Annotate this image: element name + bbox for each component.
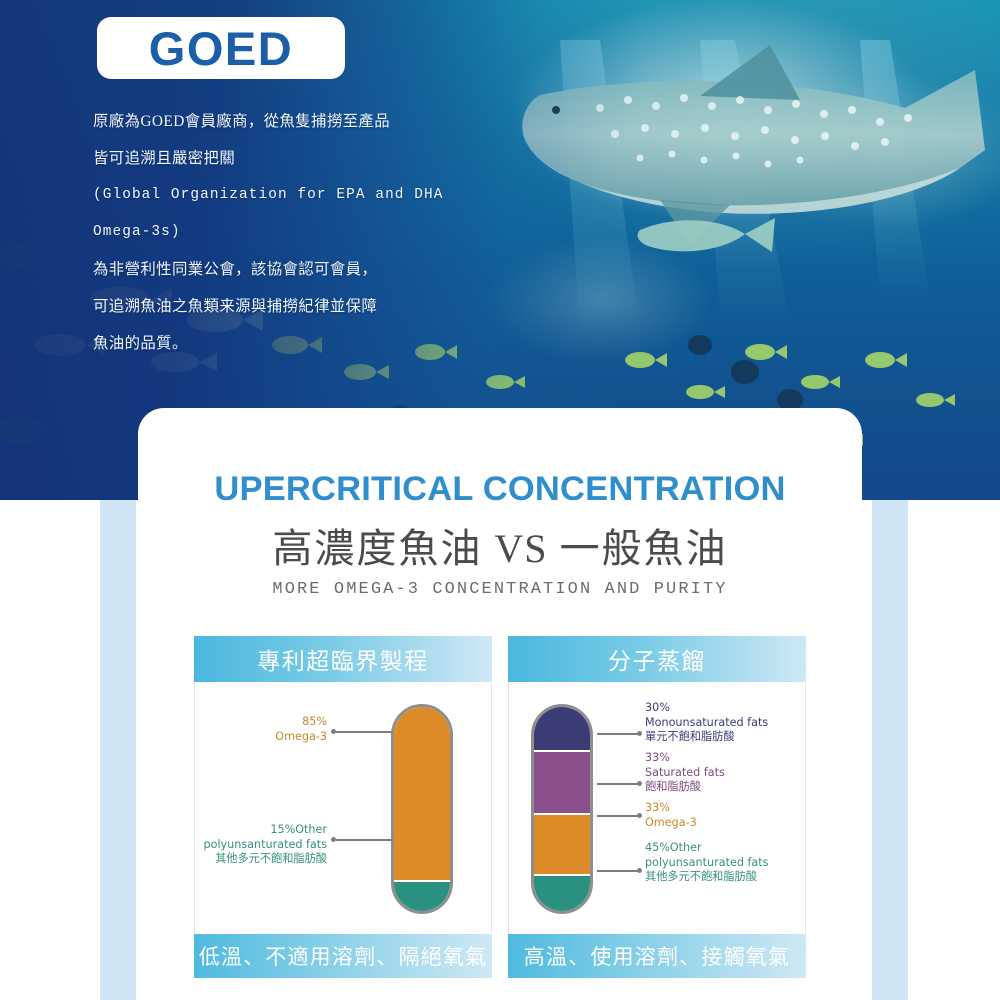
label-sat-name-en: Saturated fats [645, 765, 725, 780]
label-other-right-name-en: polyunsanturated fats [645, 855, 769, 870]
label-saturated: 33% Saturated fats 飽和脂肪酸 [645, 750, 725, 795]
label-omega3: 85% Omega-3 [215, 714, 327, 744]
panel-supercritical-footer: 低溫、不適用溶劑、隔絕氧氣 [194, 934, 492, 978]
hero-line-3: (Global Organization for EPA and DHA [93, 177, 465, 214]
label-omega3-percent: 85% [215, 714, 327, 729]
comparison-panels: 專利超臨界製程 85% Omega-3 15%Oth [194, 636, 806, 978]
label-monounsaturated: 30% Monounsaturated fats 單元不飽和脂肪酸 [645, 700, 768, 745]
label-sat-name-cn: 飽和脂肪酸 [645, 780, 725, 795]
label-other-fats-name-en: polyunsanturated fats [199, 837, 327, 852]
capsule-supercritical [391, 704, 453, 914]
hero-description: 原廠為GOED會員廠商，從魚隻捕撈至產品 皆可追溯且嚴密把關 (Global O… [93, 103, 465, 362]
hero-line-1: 原廠為GOED會員廠商，從魚隻捕撈至產品 [93, 103, 465, 140]
connector-line-omega3 [336, 731, 393, 733]
connector-line-mono [597, 733, 638, 735]
label-sat-percent: 33% [645, 750, 725, 765]
label-mono-name-cn: 單元不飽和脂肪酸 [645, 730, 768, 745]
subtitle-vs: VS [494, 526, 547, 571]
segment-omega3 [534, 813, 590, 874]
connector-dot-mono [637, 731, 642, 736]
hero-line-2: 皆可追溯且嚴密把關 [93, 140, 465, 177]
connector-dot-other-right [637, 868, 642, 873]
card-subtitle: 高濃度魚油 VS 一般魚油 [138, 516, 862, 574]
connector-dot-sat [637, 781, 642, 786]
panel-molecular-title: 分子蒸餾 [508, 636, 806, 682]
panel-molecular-footer: 高溫、使用溶劑、接觸氧氣 [508, 934, 806, 978]
subtitle-left: 高濃度魚油 [272, 526, 482, 571]
goed-logo-text: GOED [149, 25, 293, 72]
hero-line-7: 魚油的品質。 [93, 325, 465, 362]
promo-page: GOED 原廠為GOED會員廠商，從魚隻捕撈至產品 皆可追溯且嚴密把關 (Glo… [0, 0, 1000, 1000]
hero-line-6: 可追溯魚油之魚類来源與捕撈紀律並保障 [93, 288, 465, 325]
panel-supercritical-chart: 85% Omega-3 15%Other polyunsanturated fa… [194, 682, 492, 934]
card-tagline: MORE OMEGA-3 CONCENTRATION AND PURITY [138, 580, 862, 599]
connector-line-omega3-right [597, 815, 638, 817]
segment-saturated [534, 750, 590, 813]
connector-line-sat [597, 783, 638, 785]
label-omega3-name-en: Omega-3 [215, 729, 327, 744]
label-other-right-name-cn: 其他多元不飽和脂肪酸 [645, 870, 769, 885]
label-omega3-right: 33% Omega-3 [645, 800, 697, 830]
segment-monounsaturated [534, 707, 590, 750]
segment-other-fats [534, 874, 590, 911]
label-mono-name-en: Monounsaturated fats [645, 715, 768, 730]
panel-supercritical: 專利超臨界製程 85% Omega-3 15%Oth [194, 636, 492, 978]
label-other-fats-name-cn: 其他多元不飽和脂肪酸 [199, 852, 327, 867]
segment-omega3 [394, 707, 450, 880]
comparison-card: UPERCRITICAL CONCENTRATION 高濃度魚油 VS 一般魚油… [138, 408, 862, 1000]
panel-molecular-distillation: 分子蒸餾 30% Monounsaturated fats 單元不飽和脂肪酸 [508, 636, 806, 978]
connector-line-other-fats [336, 839, 393, 841]
panel-molecular-chart: 30% Monounsaturated fats 單元不飽和脂肪酸 33% Sa… [508, 682, 806, 934]
label-omega3-right-percent: 33% [645, 800, 697, 815]
goed-logo-badge: GOED [97, 17, 345, 79]
label-omega3-right-name-en: Omega-3 [645, 815, 697, 830]
connector-dot-omega3-right [637, 813, 642, 818]
label-mono-percent: 30% [645, 700, 768, 715]
label-other-fats: 15%Other polyunsanturated fats 其他多元不飽和脂肪… [199, 822, 327, 867]
connector-line-other-right [597, 870, 638, 872]
capsule-molecular [531, 704, 593, 914]
segment-other-fats [394, 880, 450, 911]
label-other-fats-percent: 15%Other [199, 822, 327, 837]
label-other-fats-right: 45%Other polyunsanturated fats 其他多元不飽和脂肪… [645, 840, 769, 885]
label-other-right-percent: 45%Other [645, 840, 769, 855]
hero-line-4: Omega-3s) [93, 214, 465, 251]
subtitle-right: 一般魚油 [560, 526, 728, 571]
panel-supercritical-title: 專利超臨界製程 [194, 636, 492, 682]
hero-line-5: 為非營利性同業公會，該協會認可會員， [93, 251, 465, 288]
card-title: UPERCRITICAL CONCENTRATION [138, 470, 862, 509]
